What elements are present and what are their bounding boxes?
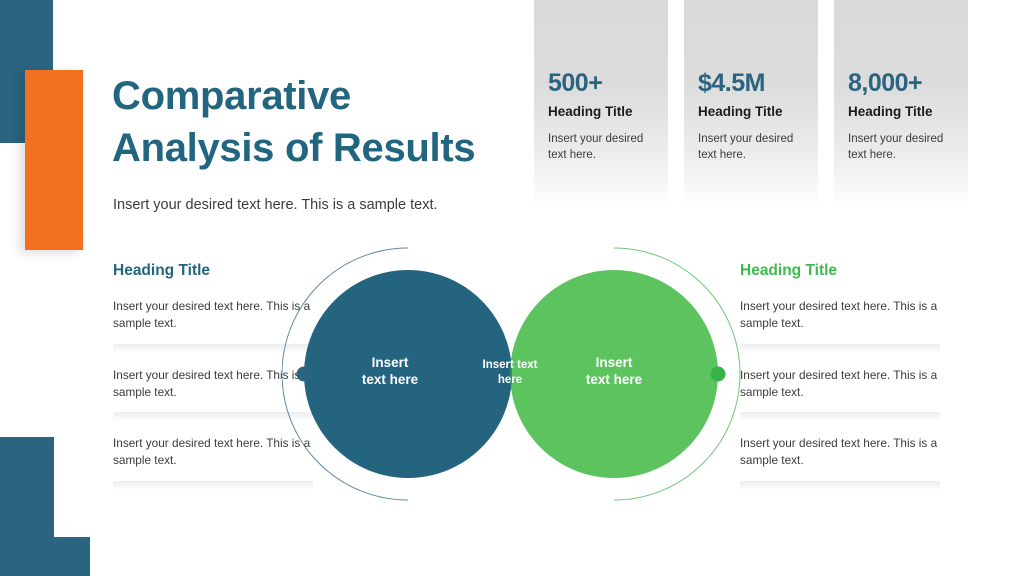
page-title-line-1: Comparative: [112, 70, 542, 122]
decor-teal-bottom-bar: [0, 537, 90, 576]
venn-left-label-line-2: text here: [362, 372, 419, 387]
divider: [740, 481, 940, 490]
venn-diagram: Insert text here Insert text here Insert…: [282, 243, 742, 505]
venn-center-label-line-1: Insert text: [483, 359, 538, 371]
venn-center-label-line-2: here: [498, 374, 522, 386]
right-column-item: Insert your desired text here. This is a…: [740, 435, 940, 469]
stat-card-text: Insert your desired text here.: [548, 131, 658, 164]
venn-right-label-line-1: Insert: [596, 355, 633, 370]
divider: [740, 344, 940, 353]
right-column-item: Insert your desired text here. This is a…: [740, 298, 940, 332]
stat-card-value: 8,000+: [848, 70, 958, 98]
stat-card[interactable]: 8,000+ Heading Title Insert your desired…: [834, 0, 968, 208]
right-text-column: Heading Title Insert your desired text h…: [740, 262, 940, 504]
stat-card-value: $4.5M: [698, 70, 808, 98]
stat-card[interactable]: $4.5M Heading Title Insert your desired …: [684, 0, 818, 208]
right-column-item: Insert your desired text here. This is a…: [740, 367, 940, 401]
decor-teal-bottom-left: [0, 437, 54, 542]
page-title: Comparative Analysis of Results: [112, 70, 542, 174]
stat-card-text: Insert your desired text here.: [848, 131, 958, 164]
venn-right-label-line-2: text here: [586, 372, 643, 387]
page-title-line-2: Analysis of Results: [112, 122, 542, 174]
stat-card-heading: Heading Title: [848, 104, 958, 119]
venn-left-label-line-1: Insert: [372, 355, 409, 370]
right-column-heading: Heading Title: [740, 262, 940, 280]
stat-card-group: 500+ Heading Title Insert your desired t…: [534, 0, 994, 208]
stat-card-text: Insert your desired text here.: [698, 131, 808, 164]
decor-orange-bar: [25, 70, 83, 250]
venn-dot-right[interactable]: [711, 367, 726, 382]
divider: [740, 412, 940, 421]
stat-card-heading: Heading Title: [698, 104, 808, 119]
page-subtitle: Insert your desired text here. This is a…: [113, 197, 543, 213]
stat-card-value: 500+: [548, 70, 658, 98]
stat-card-heading: Heading Title: [548, 104, 658, 119]
slide-canvas: Comparative Analysis of Results Insert y…: [0, 0, 1024, 576]
stat-card[interactable]: 500+ Heading Title Insert your desired t…: [534, 0, 668, 208]
venn-dot-left[interactable]: [297, 367, 312, 382]
